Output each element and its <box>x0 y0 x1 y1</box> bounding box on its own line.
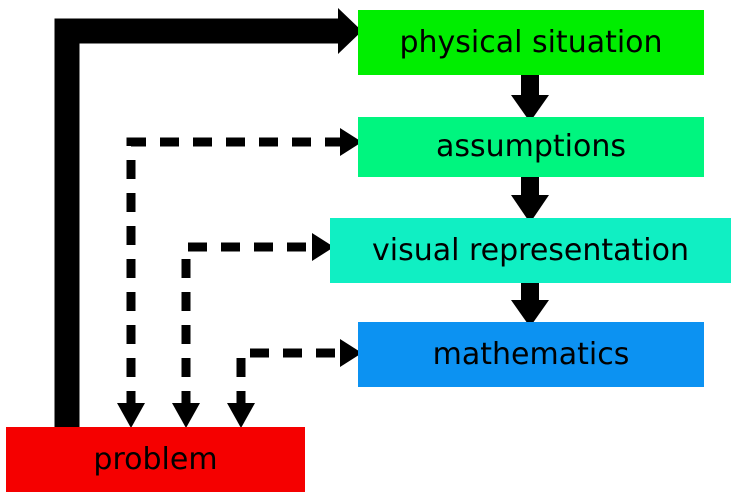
node-problem-label: problem <box>93 445 217 475</box>
edge-assumptions-to-visual-representation <box>511 176 549 223</box>
node-problem[interactable]: problem <box>6 427 305 492</box>
edge-problem-to-mathematics <box>227 339 362 428</box>
edge-physical-situation-to-assumptions <box>511 74 549 122</box>
node-visual-representation-label: visual representation <box>372 236 689 266</box>
node-mathematics-label: mathematics <box>433 340 630 370</box>
diagram-canvas: physical situation assumptions visual re… <box>0 0 738 502</box>
node-physical-situation-label: physical situation <box>399 28 662 58</box>
node-assumptions-label: assumptions <box>436 132 626 162</box>
edge-problem-to-assumptions <box>117 128 362 428</box>
edge-problem-to-physical-situation <box>67 8 362 440</box>
node-mathematics[interactable]: mathematics <box>358 322 704 387</box>
node-assumptions[interactable]: assumptions <box>358 117 704 177</box>
node-visual-representation[interactable]: visual representation <box>330 218 731 283</box>
edge-visual-representation-to-mathematics <box>511 282 549 327</box>
node-physical-situation[interactable]: physical situation <box>358 10 704 75</box>
edge-problem-to-visual-representation <box>172 233 334 428</box>
